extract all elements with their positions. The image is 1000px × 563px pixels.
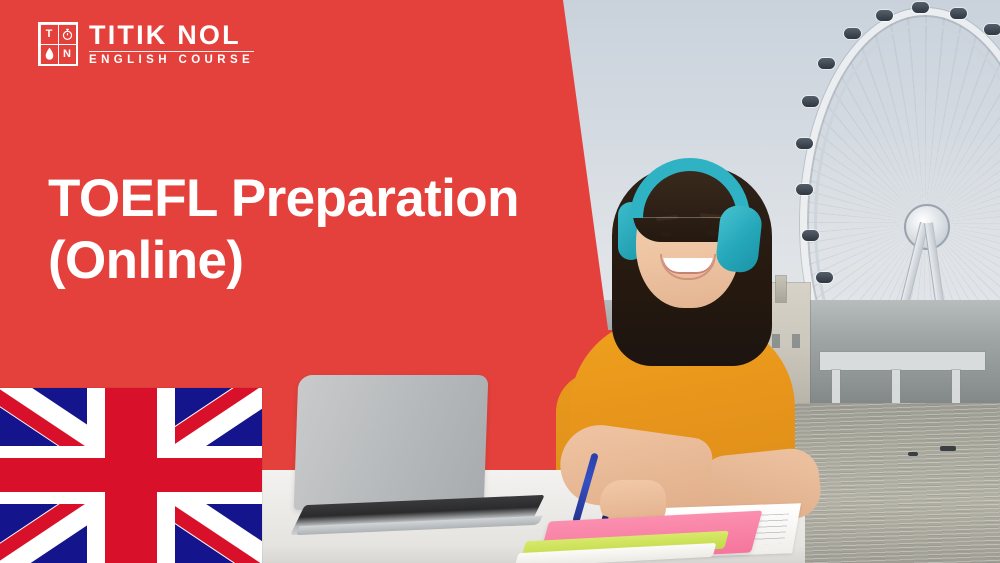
brand-logo[interactable]: T N TITIK NOL ENGLISH COURSE xyxy=(38,22,254,67)
london-eye-pod xyxy=(950,8,967,19)
flag-red-cross-vertical xyxy=(105,388,157,563)
building-window xyxy=(772,334,780,348)
uk-flag-icon xyxy=(0,388,262,563)
logo-cell-letter-n: N xyxy=(58,44,77,65)
logo-cell-letter-t: T xyxy=(40,24,59,45)
stopwatch-icon xyxy=(58,24,77,45)
logo-mark-icon: T N xyxy=(38,22,78,66)
london-eye-pod xyxy=(802,230,819,241)
london-eye-pod xyxy=(816,272,833,283)
pier-post xyxy=(952,370,960,404)
london-eye-pod xyxy=(796,138,813,149)
london-eye-pod xyxy=(796,184,813,195)
london-eye-pod xyxy=(912,2,929,13)
logo-subtitle: ENGLISH COURSE xyxy=(89,51,254,67)
logo-title: TITIK NOL xyxy=(89,22,254,49)
logo-wordmark: TITIK NOL ENGLISH COURSE xyxy=(89,22,254,67)
pier-post xyxy=(892,370,900,404)
flame-drop-icon xyxy=(40,44,59,65)
pier-post xyxy=(832,370,840,404)
embankment-railing xyxy=(820,352,985,370)
page-title-line-1: TOEFL Preparation xyxy=(48,169,519,228)
london-eye-pod xyxy=(876,10,893,21)
london-eye-pod xyxy=(984,24,1000,35)
page-title-line-2: (Online) xyxy=(48,230,588,292)
eye-right xyxy=(706,230,718,236)
eye-left xyxy=(660,231,672,237)
laptop-lid xyxy=(294,375,489,510)
building-window xyxy=(792,334,800,348)
chimney-icon xyxy=(776,276,786,302)
boat-icon xyxy=(908,452,918,456)
banner-canvas: T N TITIK NOL ENGLISH COURSE TOEFL xyxy=(0,0,1000,563)
london-eye-pod xyxy=(802,96,819,107)
london-eye-pod xyxy=(818,58,835,69)
london-eye-pod xyxy=(844,28,861,39)
boat-icon xyxy=(940,446,956,451)
page-title: TOEFL Preparation (Online) xyxy=(48,168,588,292)
